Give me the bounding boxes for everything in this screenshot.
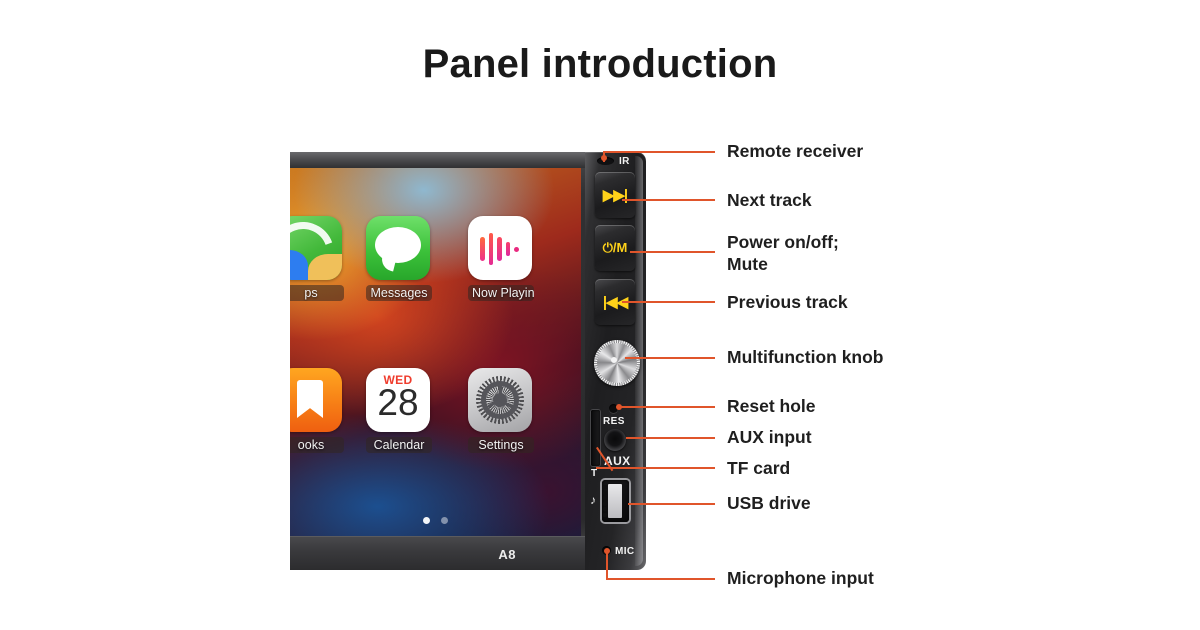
leader-line-previous-track: [622, 301, 715, 303]
leader-line-multifunction-knob: [625, 357, 715, 359]
app-label: ps: [290, 285, 344, 301]
aux-input-jack[interactable]: [604, 429, 626, 451]
control-panel: IR ▶▶| ⏻/M |◀◀ RES T AUX ♪: [585, 152, 646, 570]
settings-icon: [468, 368, 532, 432]
leader-line-power-mute: [630, 251, 715, 253]
page-indicator-dots: [290, 517, 581, 524]
bezel-top-edge: [290, 152, 590, 168]
leader-line-aux-input: [626, 437, 715, 439]
leader-line-microphone-input: [606, 578, 715, 580]
app-label: Now Playing: [468, 285, 534, 301]
app-label: Settings: [468, 437, 534, 453]
usb-port[interactable]: [602, 480, 629, 522]
device-bezel: ps Messages Now: [290, 152, 590, 570]
app-now-playing[interactable]: Now Playing: [468, 216, 534, 301]
callout-reset-hole: Reset hole: [727, 395, 816, 417]
page-dot-active[interactable]: [423, 517, 430, 524]
mic-label: MIC: [615, 546, 635, 557]
calendar-icon: WED 28: [366, 368, 430, 432]
power-mute-button[interactable]: ⏻/M: [595, 225, 635, 271]
res-label: RES: [603, 416, 625, 427]
leader-line-next-track: [622, 199, 715, 201]
next-track-icon: ▶▶|: [603, 186, 627, 204]
tf-card-slot[interactable]: [591, 410, 600, 466]
messages-icon: [366, 216, 430, 280]
books-icon: [290, 368, 342, 432]
leader-line-usb-drive: [628, 503, 715, 505]
callout-tf-card: TF card: [727, 457, 790, 479]
ir-label: IR: [619, 156, 630, 167]
app-label: Calendar: [366, 437, 432, 453]
app-maps[interactable]: ps: [290, 216, 344, 301]
callout-microphone-input: Microphone input: [727, 567, 874, 589]
callout-multifunction-knob: Multifunction knob: [727, 346, 884, 368]
tf-label: T: [591, 468, 598, 479]
now-playing-icon: [468, 216, 532, 280]
model-label: A8: [498, 547, 516, 562]
callout-usb-drive: USB drive: [727, 492, 811, 514]
bezel-bottom-edge: A8: [290, 536, 590, 570]
power-icon: ⏻/M: [603, 240, 628, 256]
calendar-day: 28: [366, 383, 430, 423]
leader-line-microphone-input: [606, 550, 608, 579]
touchscreen-display[interactable]: ps Messages Now: [290, 168, 581, 536]
leader-line-reset-hole: [619, 406, 715, 408]
music-note-icon: ♪: [590, 493, 596, 507]
page-title: Panel introduction: [0, 42, 1200, 87]
leader-line-remote-receiver: [603, 152, 605, 162]
knob-face: [597, 343, 637, 383]
leader-line-remote-receiver: [603, 151, 715, 153]
knob-center: [611, 357, 617, 363]
callout-power-mute: Power on/off; Mute: [727, 231, 839, 275]
app-messages[interactable]: Messages: [366, 216, 432, 301]
app-label: Messages: [366, 285, 432, 301]
app-settings[interactable]: Settings: [468, 368, 534, 453]
leader-line-tf-card: [596, 467, 715, 469]
app-label: ooks: [290, 437, 344, 453]
multifunction-knob[interactable]: [594, 340, 640, 386]
callout-aux-input: AUX input: [727, 426, 812, 448]
maps-icon: [290, 216, 342, 280]
callout-previous-track: Previous track: [727, 291, 848, 313]
callout-next-track: Next track: [727, 189, 812, 211]
home-screen-grid: ps Messages Now: [290, 168, 581, 536]
page-dot[interactable]: [441, 517, 448, 524]
page-root: Panel introduction ps: [0, 0, 1200, 630]
callout-remote-receiver: Remote receiver: [727, 140, 863, 162]
app-books[interactable]: ooks: [290, 368, 344, 453]
car-stereo-device: ps Messages Now: [290, 152, 646, 570]
next-track-button[interactable]: ▶▶|: [595, 172, 635, 218]
app-calendar[interactable]: WED 28 Calendar: [366, 368, 432, 453]
